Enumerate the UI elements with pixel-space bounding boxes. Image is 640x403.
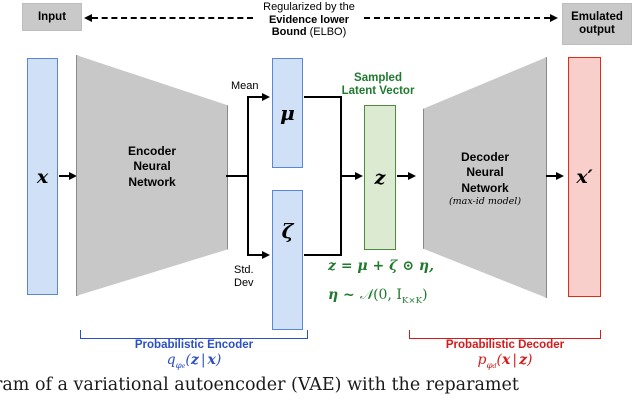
elbo-dashed-line-left [92,17,253,19]
encoder-formula-q: q [167,352,176,368]
latent-vector-bar: z [364,105,396,250]
input-chip-label: Input [38,11,66,24]
noise-prior-close: ) [422,287,427,303]
encoder-formula-x: x [208,352,216,368]
mean-label-text: Mean [231,80,259,92]
branch-std-arrow [262,251,270,259]
arrow-input-to-encoder-head [69,172,77,180]
decoder-block-text: Decoder Neural Network (max-id model) [424,150,546,208]
encoder-brace-formula: qφe(z|x) [80,352,308,371]
figure-caption-text: ram of a variational autoencoder (VAE) w… [0,375,519,395]
merge-to-latent-line [340,175,356,177]
encoder-formula-close: ) [216,352,221,368]
elbo-arrow-left [84,14,92,22]
sampled-latent-caption: Sampled Latent Vector [330,72,426,98]
noise-prior-equation: η ~ 𝒩(0, IK×K) [328,287,428,306]
output-vector-label: x′ [576,166,592,188]
latent-vector-label: z [375,167,386,189]
decoder-brace [409,330,601,339]
elbo-caption-line2: Evidence lower [247,14,371,27]
zeta-vector-label: ζ [282,219,294,301]
emulated-output-chip: Emulated output [562,3,632,45]
encoder-output-stem [226,175,248,177]
elbo-caption: Regularized by the Evidence lower Bound … [247,1,371,39]
mu-vector-bar: μ [272,58,303,168]
encoder-block: Encoder Neural Network [76,55,228,296]
encoder-formula-z: z [191,352,199,368]
decoder-line-1: Decoder [424,150,546,165]
mu-vector-label: μ [280,101,295,125]
decoder-subtitle: (max-id model) [424,196,546,208]
noise-prior-subscript: K×K [402,296,422,306]
latent-to-decoder-arrow [408,172,416,180]
decoder-brace-formula: pφd(x|z) [409,352,601,371]
elbo-dashed-line-right [364,17,550,19]
encoder-output-split-vertical [247,96,249,256]
elbo-arrow-right [550,14,558,22]
elbo-caption-line3: Bound (ELBO) [247,26,371,39]
input-chip: Input [22,3,82,31]
encoder-block-text: Encoder Neural Network [77,144,227,190]
decoder-block: Decoder Neural Network (max-id model) [423,57,547,298]
figure-caption: ram of a variational autoencoder (VAE) w… [0,375,519,395]
decoder-formula-z: z [519,352,527,368]
std-dev-line2: Dev [234,277,268,290]
std-dev-label: Std. Dev [234,264,268,289]
emulated-output-line2: output [579,24,615,37]
encoder-brace [80,330,308,339]
decoder-to-output-arrow [556,172,564,180]
reparameterization-equation-text: z = μ + ζ ⊙ η, [328,258,434,274]
encoder-brace-title-text: Probabilistic Encoder [135,339,253,351]
sampled-latent-line2: Latent Vector [330,85,426,98]
std-dev-line1: Std. [234,264,268,277]
emulated-output-line1: Emulated [571,11,623,24]
zeta-vector-bar: ζ [272,190,303,330]
decoder-brace-title: Probabilistic Decoder [409,339,601,352]
decoder-formula-close: ) [527,352,532,368]
branch-std-line [247,254,263,256]
decoder-formula-pipe: | [510,352,519,368]
decoder-brace-title-text: Probabilistic Decoder [446,339,564,351]
encoder-line-2: Neural [77,159,227,174]
input-vector-label: x [37,166,48,188]
decoder-line-3: Network [424,181,546,196]
reparameterization-equation: z = μ + ζ ⊙ η, [328,258,434,274]
output-vector-bar: x′ [568,57,601,297]
sampled-latent-line1: Sampled [330,72,426,85]
decoder-line-2: Neural [424,165,546,180]
encoder-formula-pipe: | [199,352,208,368]
encoder-line-1: Encoder [77,144,227,159]
mean-label: Mean [231,80,271,93]
branch-mean-line [247,96,263,98]
noise-prior-rhs: (0, I [373,287,402,303]
noise-prior-cal-n: 𝒩 [360,287,373,303]
branch-mean-arrow [262,93,270,101]
merge-to-latent-arrow [355,172,363,180]
input-vector-bar: x [27,58,58,295]
elbo-bound-word: Bound [272,26,307,38]
elbo-caption-line1: Regularized by the [247,1,371,14]
encoder-line-3: Network [77,175,227,190]
vae-diagram-figure: Input Emulated output Regularized by the… [0,0,640,403]
zeta-output-line [304,254,342,256]
elbo-acronym: (ELBO) [307,26,347,38]
encoder-brace-title: Probabilistic Encoder [80,339,308,352]
noise-prior-lhs: η ~ [328,287,360,303]
